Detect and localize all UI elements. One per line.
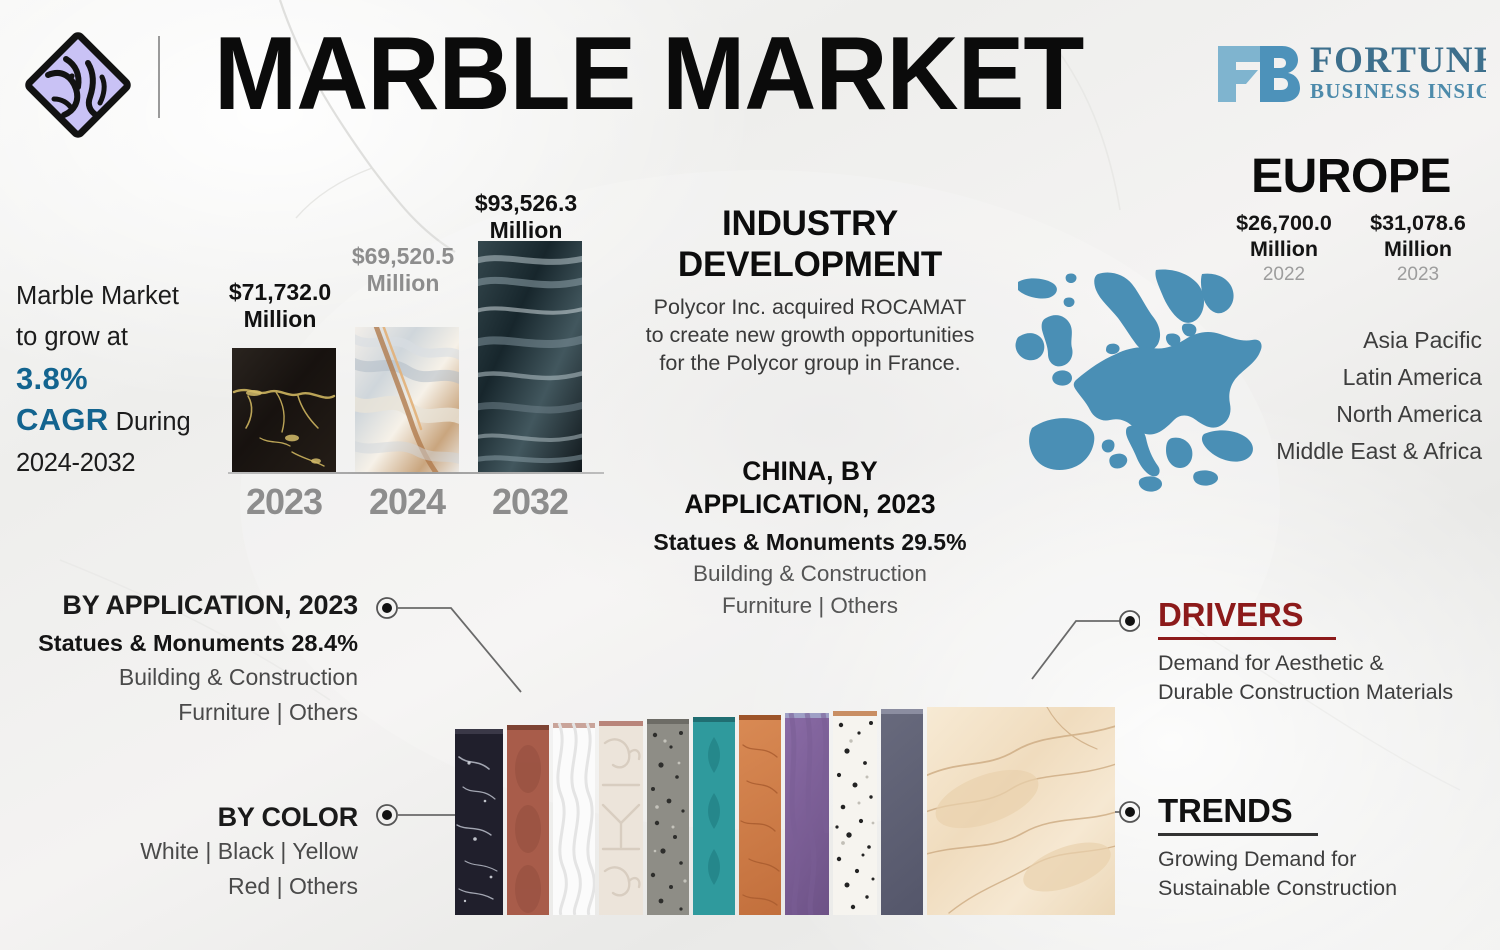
- industry-body-line-3: for the Polycor group in France.: [608, 349, 1012, 377]
- europe-heading: EUROPE: [1216, 152, 1486, 202]
- region-north-america: North America: [1182, 396, 1482, 433]
- tile-swatch-teal: [693, 717, 735, 915]
- trends-underline: [1158, 833, 1318, 836]
- cagr-period: 2024-2032: [16, 443, 226, 484]
- cagr-summary: Marble Market to grow at 3.8% CAGR Durin…: [16, 276, 226, 484]
- tile-swatch-orange: [739, 715, 781, 915]
- by-color-line-1: White | Black | Yellow: [8, 834, 358, 869]
- by-application-segment-3: Furniture | Others: [8, 695, 358, 730]
- cagr-label: CAGR: [16, 402, 108, 437]
- tile-top-edge: [739, 715, 781, 720]
- industry-heading-line-1: INDUSTRY: [608, 203, 1012, 244]
- by-color-block: BY COLOR White | Black | Yellow Red | Ot…: [8, 800, 358, 904]
- tile-swatch-terracotta: [507, 725, 549, 915]
- china-heading-line-2: APPLICATION, 2023: [620, 488, 1000, 521]
- drivers-block: DRIVERS Demand for Aesthetic & Durable C…: [1158, 596, 1498, 707]
- drivers-heading: DRIVERS: [1158, 596, 1498, 634]
- cagr-rate: 3.8%: [16, 358, 226, 399]
- market-size-bar-chart: $71,732.0 Million $69,520.5 Million: [228, 195, 608, 525]
- trends-heading: TRENDS: [1158, 792, 1498, 830]
- brand-primary-text: FORTUNE: [1310, 40, 1486, 81]
- header-divider: [158, 36, 160, 118]
- trends-block: TRENDS Growing Demand for Sustainable Co…: [1158, 792, 1498, 903]
- industry-body-line-2: to create new growth opportunities: [608, 321, 1012, 349]
- bar-2023: [232, 348, 336, 473]
- trends-body-line-1: Growing Demand for: [1158, 845, 1498, 874]
- tile-swatch-purple: [785, 713, 829, 915]
- cagr-line-1: Marble Market: [16, 276, 226, 317]
- regions-list: Asia Pacific Latin America North America…: [1182, 322, 1482, 470]
- connector-drivers: [1030, 595, 1140, 685]
- fb-monogram-icon: [1218, 46, 1300, 102]
- page-title: MARBLE MARKET: [214, 22, 1083, 126]
- by-color-heading: BY COLOR: [8, 800, 358, 834]
- europe-value-2023: $31,078.6 Million 2023: [1358, 210, 1478, 288]
- china-segment-3: Furniture | Others: [620, 590, 1000, 622]
- cagr-during: During: [108, 408, 190, 436]
- cagr-line-2: to grow at: [16, 317, 226, 358]
- bar-label-2032: $93,526.3 Million: [451, 190, 601, 244]
- page-header: MARBLE MARKET FORTUNE BUSINESS INSIGHTS: [0, 0, 1500, 150]
- china-by-application-block: CHINA, BY APPLICATION, 2023 Statues & Mo…: [620, 455, 1000, 622]
- tile-swatch-slate: [881, 709, 923, 915]
- bar-2024: [355, 327, 459, 473]
- connector-by-application: [375, 595, 535, 705]
- marble-diamond-logo-icon: [22, 30, 134, 140]
- region-middle-east-africa: Middle East & Africa: [1182, 433, 1482, 470]
- chart-baseline-axis: [228, 472, 604, 474]
- industry-body-line-1: Polycor Inc. acquired ROCAMAT: [608, 293, 1012, 321]
- drivers-underline: [1158, 637, 1336, 640]
- drivers-body-line-2: Durable Construction Materials: [1158, 678, 1498, 707]
- tile-swatch-white-terrazzo: [833, 711, 877, 915]
- xtick-2032: 2032: [465, 481, 595, 523]
- by-application-segment-2: Building & Construction: [8, 660, 358, 695]
- china-segment-2: Building & Construction: [620, 558, 1000, 590]
- tile-swatch-black: [455, 729, 503, 915]
- region-latin-america: Latin America: [1182, 359, 1482, 396]
- brand-secondary-text: BUSINESS INSIGHTS: [1310, 79, 1486, 103]
- xtick-2023: 2023: [219, 481, 349, 523]
- bar-2032: [478, 241, 582, 473]
- china-top-segment: Statues & Monuments 29.5%: [620, 527, 1000, 558]
- industry-development-block: INDUSTRY DEVELOPMENT Polycor Inc. acquir…: [608, 203, 1012, 377]
- by-application-top-segment: Statues & Monuments 28.4%: [8, 627, 358, 660]
- china-heading-line-1: CHINA, BY: [620, 455, 1000, 488]
- by-application-heading: BY APPLICATION, 2023: [8, 588, 358, 622]
- tile-top-edge: [881, 709, 923, 714]
- tile-swatch-gray-terrazzo: [647, 719, 689, 915]
- region-asia-pacific: Asia Pacific: [1182, 322, 1482, 359]
- tile-swatch-white-wave: [553, 723, 595, 915]
- bar-label-2024: $69,520.5 Million: [328, 243, 478, 297]
- by-application-block: BY APPLICATION, 2023 Statues & Monuments…: [8, 588, 358, 730]
- fortune-business-insights-logo[interactable]: FORTUNE BUSINESS INSIGHTS: [1214, 36, 1486, 116]
- by-color-line-2: Red | Others: [8, 869, 358, 904]
- trends-body-line-2: Sustainable Construction: [1158, 874, 1498, 903]
- marble-tile-fan: [455, 705, 1115, 915]
- industry-heading-line-2: DEVELOPMENT: [608, 244, 1012, 285]
- tile-swatch-cream-marble-slab: [927, 707, 1115, 915]
- drivers-body-line-1: Demand for Aesthetic &: [1158, 649, 1498, 678]
- tile-swatch-cream-ornament: [599, 721, 643, 915]
- xtick-2024: 2024: [342, 481, 472, 523]
